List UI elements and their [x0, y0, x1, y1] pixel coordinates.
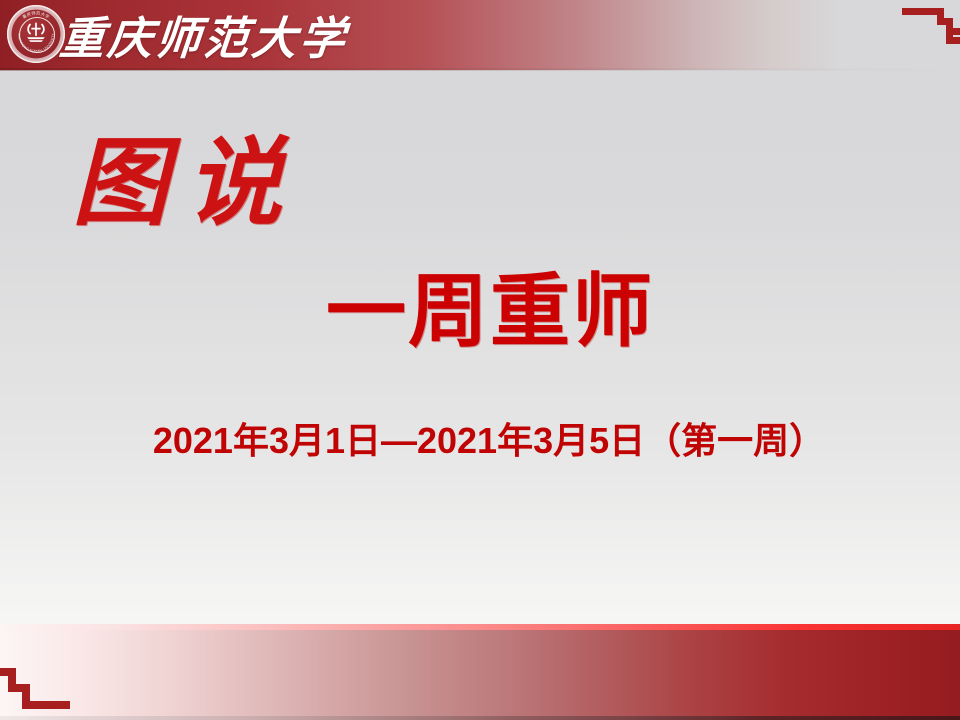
page-title-seal: 图说 — [72, 136, 300, 232]
footer-band — [0, 630, 960, 716]
chinese-fret-ornament-top-right-icon — [894, 6, 960, 48]
page-title-main: 一周重师 — [326, 273, 654, 353]
subtitle-date-range: 2021年3月1日—2021年3月5日（第一周） — [0, 412, 960, 464]
logo-emblem-icon — [21, 18, 51, 48]
university-seal-logo: 重庆师范大学 CHONGQING NORMAL UNIVERSITY — [7, 5, 65, 63]
header-band-shadow — [0, 68, 960, 71]
university-name-title: 重庆师范大学 — [57, 2, 351, 66]
presentation-slide: 重庆师范大学 CHONGQING NORMAL UNIVERSITY 重庆师范大… — [0, 0, 960, 720]
chinese-fret-ornament-bottom-left-icon — [0, 662, 76, 712]
footer-bottom-edge — [0, 716, 960, 720]
